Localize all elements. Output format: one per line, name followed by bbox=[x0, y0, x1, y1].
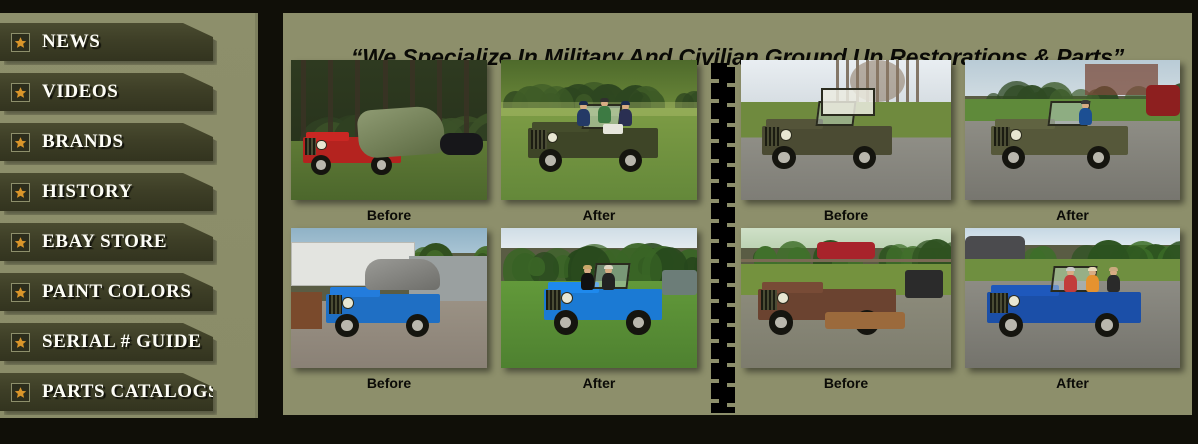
photo-scene bbox=[291, 228, 487, 368]
star-icon bbox=[11, 183, 30, 202]
photo-caption: After bbox=[965, 207, 1180, 223]
zipper-tooth bbox=[711, 213, 735, 223]
zipper-tooth bbox=[711, 333, 735, 343]
gallery-item-after[interactable]: After bbox=[501, 60, 697, 223]
photo-caption: After bbox=[501, 375, 697, 391]
zipper-tooth bbox=[711, 133, 735, 143]
photo-scene bbox=[741, 228, 951, 368]
photo-scene bbox=[291, 60, 487, 200]
zipper-tooth bbox=[711, 93, 735, 103]
gallery-item-after[interactable]: After bbox=[965, 228, 1180, 391]
zipper-tooth bbox=[711, 173, 735, 183]
photo-scene bbox=[501, 60, 697, 200]
zipper-tooth bbox=[711, 63, 735, 73]
photo-scene bbox=[965, 60, 1180, 200]
zipper-tooth bbox=[711, 283, 735, 293]
sidebar-item-history[interactable]: HISTORY bbox=[0, 173, 213, 211]
zipper-tooth bbox=[711, 313, 735, 323]
sidebar-item-news[interactable]: NEWS bbox=[0, 23, 213, 61]
zipper-tooth bbox=[711, 163, 735, 173]
star-icon bbox=[11, 33, 30, 52]
photo-before[interactable] bbox=[291, 228, 487, 368]
zipper-tooth bbox=[711, 203, 735, 213]
zipper-divider-icon bbox=[711, 63, 735, 408]
sidebar-item-label: PAINT COLORS bbox=[42, 281, 192, 303]
sidebar-nav: NEWSVIDEOSBRANDSHISTORYEBAY STOREPAINT C… bbox=[0, 13, 258, 418]
sidebar-item-label: SERIAL # GUIDE bbox=[42, 331, 201, 353]
zipper-tooth bbox=[711, 253, 735, 263]
zipper-tooth bbox=[711, 143, 735, 153]
sidebar-item-videos[interactable]: VIDEOS bbox=[0, 73, 213, 111]
zipper-tooth bbox=[711, 303, 735, 313]
photo-before[interactable] bbox=[741, 60, 951, 200]
sidebar-item-label: VIDEOS bbox=[42, 81, 118, 103]
sidebar-item-paint-colors[interactable]: PAINT COLORS bbox=[0, 273, 213, 311]
star-icon bbox=[11, 283, 30, 302]
sidebar-item-label: HISTORY bbox=[42, 181, 133, 203]
zipper-tooth bbox=[711, 403, 735, 413]
star-icon bbox=[11, 133, 30, 152]
zipper-tooth bbox=[711, 263, 735, 273]
photo-scene bbox=[501, 228, 697, 368]
star-icon bbox=[11, 233, 30, 252]
zipper-tooth bbox=[711, 383, 735, 393]
zipper-tooth bbox=[711, 273, 735, 283]
photo-caption: Before bbox=[291, 375, 487, 391]
zipper-tooth bbox=[711, 243, 735, 253]
page-root: NEWSVIDEOSBRANDSHISTORYEBAY STOREPAINT C… bbox=[0, 0, 1198, 444]
zipper-tooth bbox=[711, 353, 735, 363]
main-content-panel: “We Specialize In Military And Civilian … bbox=[283, 13, 1192, 415]
sidebar-item-label: NEWS bbox=[42, 31, 100, 53]
star-icon bbox=[11, 333, 30, 352]
zipper-tooth bbox=[711, 343, 735, 353]
photo-after[interactable] bbox=[501, 228, 697, 368]
sidebar-item-parts-catalogs[interactable]: PARTS CATALOGS bbox=[0, 373, 213, 411]
zipper-tooth bbox=[711, 83, 735, 93]
zipper-tooth bbox=[711, 293, 735, 303]
photo-after[interactable] bbox=[965, 60, 1180, 200]
sidebar-item-ebay-store[interactable]: EBAY STORE bbox=[0, 223, 213, 261]
zipper-tooth bbox=[711, 373, 735, 383]
gallery-column-right: BeforeAfterBeforeAfter bbox=[741, 60, 1186, 396]
photo-before[interactable] bbox=[291, 60, 487, 200]
sidebar-item-label: PARTS CATALOGS bbox=[42, 381, 219, 403]
photo-caption: After bbox=[501, 207, 697, 223]
star-icon bbox=[11, 83, 30, 102]
zipper-tooth bbox=[711, 113, 735, 123]
photo-caption: Before bbox=[741, 375, 951, 391]
zipper-tooth bbox=[711, 153, 735, 163]
gallery-row: BeforeAfter bbox=[291, 228, 701, 396]
sidebar-items-list: NEWSVIDEOSBRANDSHISTORYEBAY STOREPAINT C… bbox=[0, 13, 258, 418]
zipper-tooth bbox=[711, 233, 735, 243]
zipper-tooth bbox=[711, 363, 735, 373]
star-icon bbox=[11, 383, 30, 402]
zipper-tooth bbox=[711, 73, 735, 83]
gallery-item-before[interactable]: Before bbox=[291, 60, 487, 223]
gallery-row: BeforeAfter bbox=[741, 228, 1186, 396]
zipper-tooth bbox=[711, 393, 735, 403]
sidebar-item-label: BRANDS bbox=[42, 131, 124, 153]
gallery-item-before[interactable]: Before bbox=[741, 228, 951, 391]
photo-scene bbox=[965, 228, 1180, 368]
gallery-item-before[interactable]: Before bbox=[291, 228, 487, 391]
photo-caption: Before bbox=[741, 207, 951, 223]
zipper-tooth bbox=[711, 123, 735, 133]
sidebar-item-serial-guide[interactable]: SERIAL # GUIDE bbox=[0, 323, 213, 361]
gallery-item-after[interactable]: After bbox=[965, 60, 1180, 223]
zipper-tooth bbox=[711, 103, 735, 113]
photo-caption: After bbox=[965, 375, 1180, 391]
photo-after[interactable] bbox=[965, 228, 1180, 368]
photo-before[interactable] bbox=[741, 228, 951, 368]
zipper-tooth bbox=[711, 323, 735, 333]
sidebar-item-label: EBAY STORE bbox=[42, 231, 167, 253]
gallery-row: BeforeAfter bbox=[291, 60, 701, 228]
photo-after[interactable] bbox=[501, 60, 697, 200]
photo-caption: Before bbox=[291, 207, 487, 223]
gallery-item-after[interactable]: After bbox=[501, 228, 697, 391]
zipper-tooth bbox=[711, 183, 735, 193]
zipper-tooth bbox=[711, 223, 735, 233]
gallery-column-left: BeforeAfterBeforeAfter bbox=[291, 60, 701, 396]
zipper-tooth bbox=[711, 193, 735, 203]
gallery-item-before[interactable]: Before bbox=[741, 60, 951, 223]
sidebar-item-brands[interactable]: BRANDS bbox=[0, 123, 213, 161]
photo-scene bbox=[741, 60, 951, 200]
gallery-row: BeforeAfter bbox=[741, 60, 1186, 228]
